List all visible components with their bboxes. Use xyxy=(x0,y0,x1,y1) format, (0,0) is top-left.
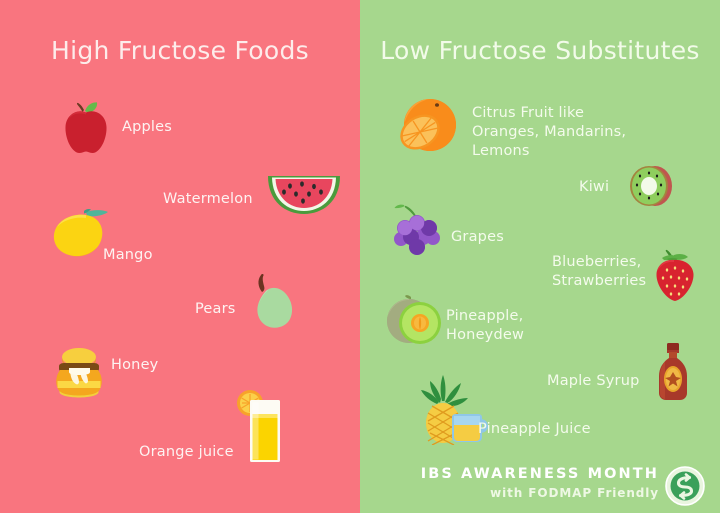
fodmap-friendly-logo-icon xyxy=(665,466,705,506)
infographic-canvas: High Fructose Foods Apples xyxy=(0,0,720,513)
item-label-watermelon: Watermelon xyxy=(163,190,253,209)
item-label-mango: Mango xyxy=(103,246,153,265)
item-label-citrus: Citrus Fruit like Oranges, Mandarins, Le… xyxy=(472,104,626,161)
item-label-orange-juice: Orange juice xyxy=(139,443,234,462)
panel-left-title: High Fructose Foods xyxy=(0,36,360,65)
item-label-grapes: Grapes xyxy=(451,228,504,247)
panel-right-title: Low Fructose Substitutes xyxy=(360,36,720,65)
footer-branding: IBS AWARENESS MONTH with FODMAP Friendly xyxy=(430,466,705,510)
strawberry-icon xyxy=(648,248,700,304)
watermelon-icon xyxy=(264,168,344,216)
apple-icon xyxy=(60,100,112,156)
footer-title: IBS AWARENESS MONTH xyxy=(421,466,659,482)
item-label-honey: Honey xyxy=(111,356,158,375)
panel-high-fructose: High Fructose Foods Apples xyxy=(0,0,360,513)
orange-juice-icon xyxy=(232,388,284,466)
syrup-bottle-icon xyxy=(650,341,696,403)
honey-pot-icon xyxy=(50,344,108,402)
orange-icon xyxy=(396,92,460,156)
item-label-maple-syrup: Maple Syrup xyxy=(547,372,640,391)
grapes-icon xyxy=(389,202,449,260)
melon-icon xyxy=(383,292,447,348)
pear-icon xyxy=(243,270,305,332)
item-label-kiwi: Kiwi xyxy=(579,178,609,197)
item-label-pineapple-honeydew: Pineapple, Honeydew xyxy=(446,307,524,345)
item-label-pineapple-juice: Pineapple Juice xyxy=(478,420,591,439)
kiwi-icon xyxy=(626,160,678,212)
footer-subtitle: with FODMAP Friendly xyxy=(490,486,659,500)
item-label-berries: Blueberries, Strawberries xyxy=(552,253,646,291)
panel-low-fructose: Low Fructose Substitutes xyxy=(360,0,720,513)
item-label-pears: Pears xyxy=(195,300,236,319)
item-label-apples: Apples xyxy=(122,118,172,137)
